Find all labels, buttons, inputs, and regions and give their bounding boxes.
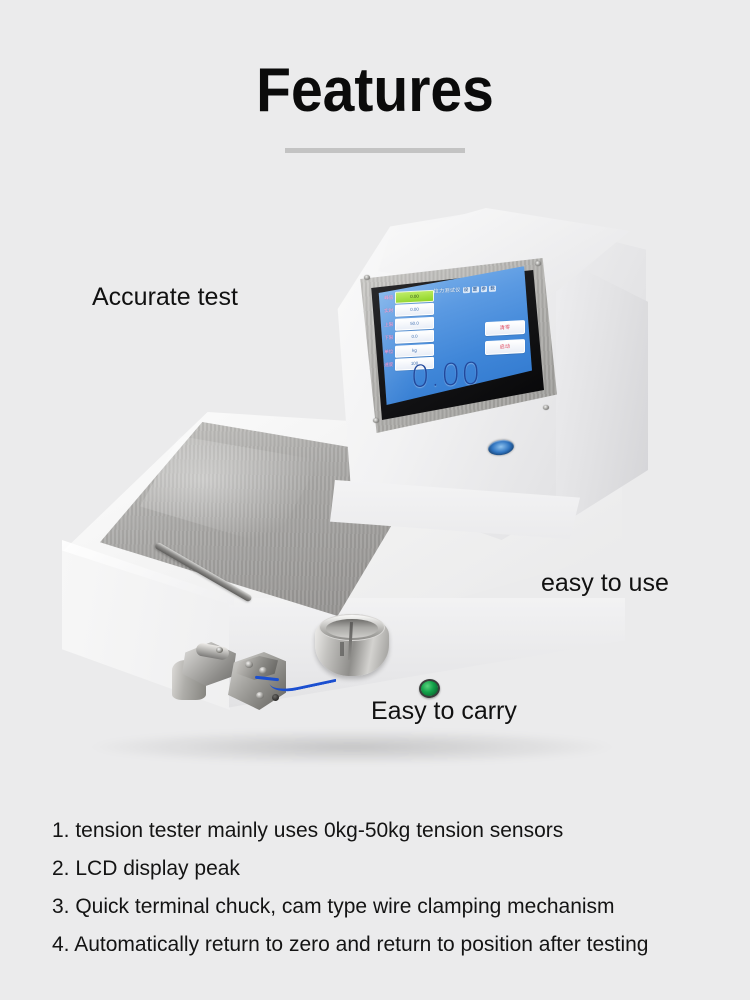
lcd-title-chip[interactable]: 设	[463, 286, 470, 292]
lcd-title-chip[interactable]: 参	[481, 285, 488, 291]
lcd-start-button[interactable]: 启动	[485, 339, 525, 355]
cam-pivot-hole	[216, 647, 223, 653]
bezel-screw-icon	[364, 275, 370, 280]
feature-item: 4. Automatically return to zero and retu…	[52, 926, 732, 964]
lcd-button-group: 清零 启动	[485, 320, 525, 360]
lcd-title-text: 拉力测试仪	[434, 286, 461, 294]
lcd-row[interactable]: 峰值 0.00	[382, 290, 434, 304]
lcd-row-label: 上限	[382, 322, 393, 328]
lcd-row[interactable]: 上限 50.0	[382, 317, 434, 331]
bezel-screw-icon	[535, 261, 541, 266]
lcd-row-value: 50.0	[395, 316, 434, 330]
callout-accurate-test: Accurate test	[92, 282, 238, 312]
callout-easy-to-use: easy to use	[541, 568, 669, 598]
feature-item: 2. LCD display peak	[52, 850, 732, 888]
lcd-zero-button[interactable]: 清零	[485, 320, 525, 336]
clamp-screw-icon	[245, 661, 253, 668]
product-photo: 拉力测试仪 设 置 参 数 峰值 0.00 实时 0.00 上限 50.0	[0, 190, 750, 770]
lcd-row-label: 下限	[382, 335, 393, 341]
callout-easy-to-carry: Easy to carry	[371, 696, 517, 726]
lcd-row-label: 峰值	[382, 295, 393, 301]
lcd-row[interactable]: 下限 0.0	[382, 330, 434, 344]
feature-list: 1. tension tester mainly uses 0kg-50kg t…	[52, 812, 732, 964]
lcd-row-value: 0.00	[395, 303, 434, 317]
bezel-screw-icon	[543, 405, 549, 410]
lcd-row-value: kg	[395, 343, 434, 357]
terminal-chuck-notch	[340, 642, 344, 656]
feature-item: 1. tension tester mainly uses 0kg-50kg t…	[52, 812, 732, 850]
bezel-screw-icon	[373, 418, 379, 423]
lcd-row[interactable]: 单位 kg	[382, 344, 434, 358]
lcd-title-chip[interactable]: 置	[472, 286, 479, 292]
lcd-row-value: 0.00	[395, 289, 434, 303]
clamp-hole	[272, 694, 279, 701]
lcd-row[interactable]: 实时 0.00	[382, 303, 434, 317]
title-divider	[285, 148, 465, 153]
machine-shadow	[92, 730, 612, 764]
lcd-titlebar: 拉力测试仪 设 置 参 数	[428, 283, 502, 296]
feature-item: 3. Quick terminal chuck, cam type wire c…	[52, 888, 732, 926]
lcd-row-label: 单位	[382, 349, 393, 355]
clamp-screw-icon	[256, 692, 264, 699]
lcd-row-label: 实时	[382, 308, 393, 314]
lcd-row-value: 0.0	[395, 330, 434, 344]
page-title: Features	[30, 56, 720, 126]
lcd-title-chip[interactable]: 数	[489, 285, 496, 291]
